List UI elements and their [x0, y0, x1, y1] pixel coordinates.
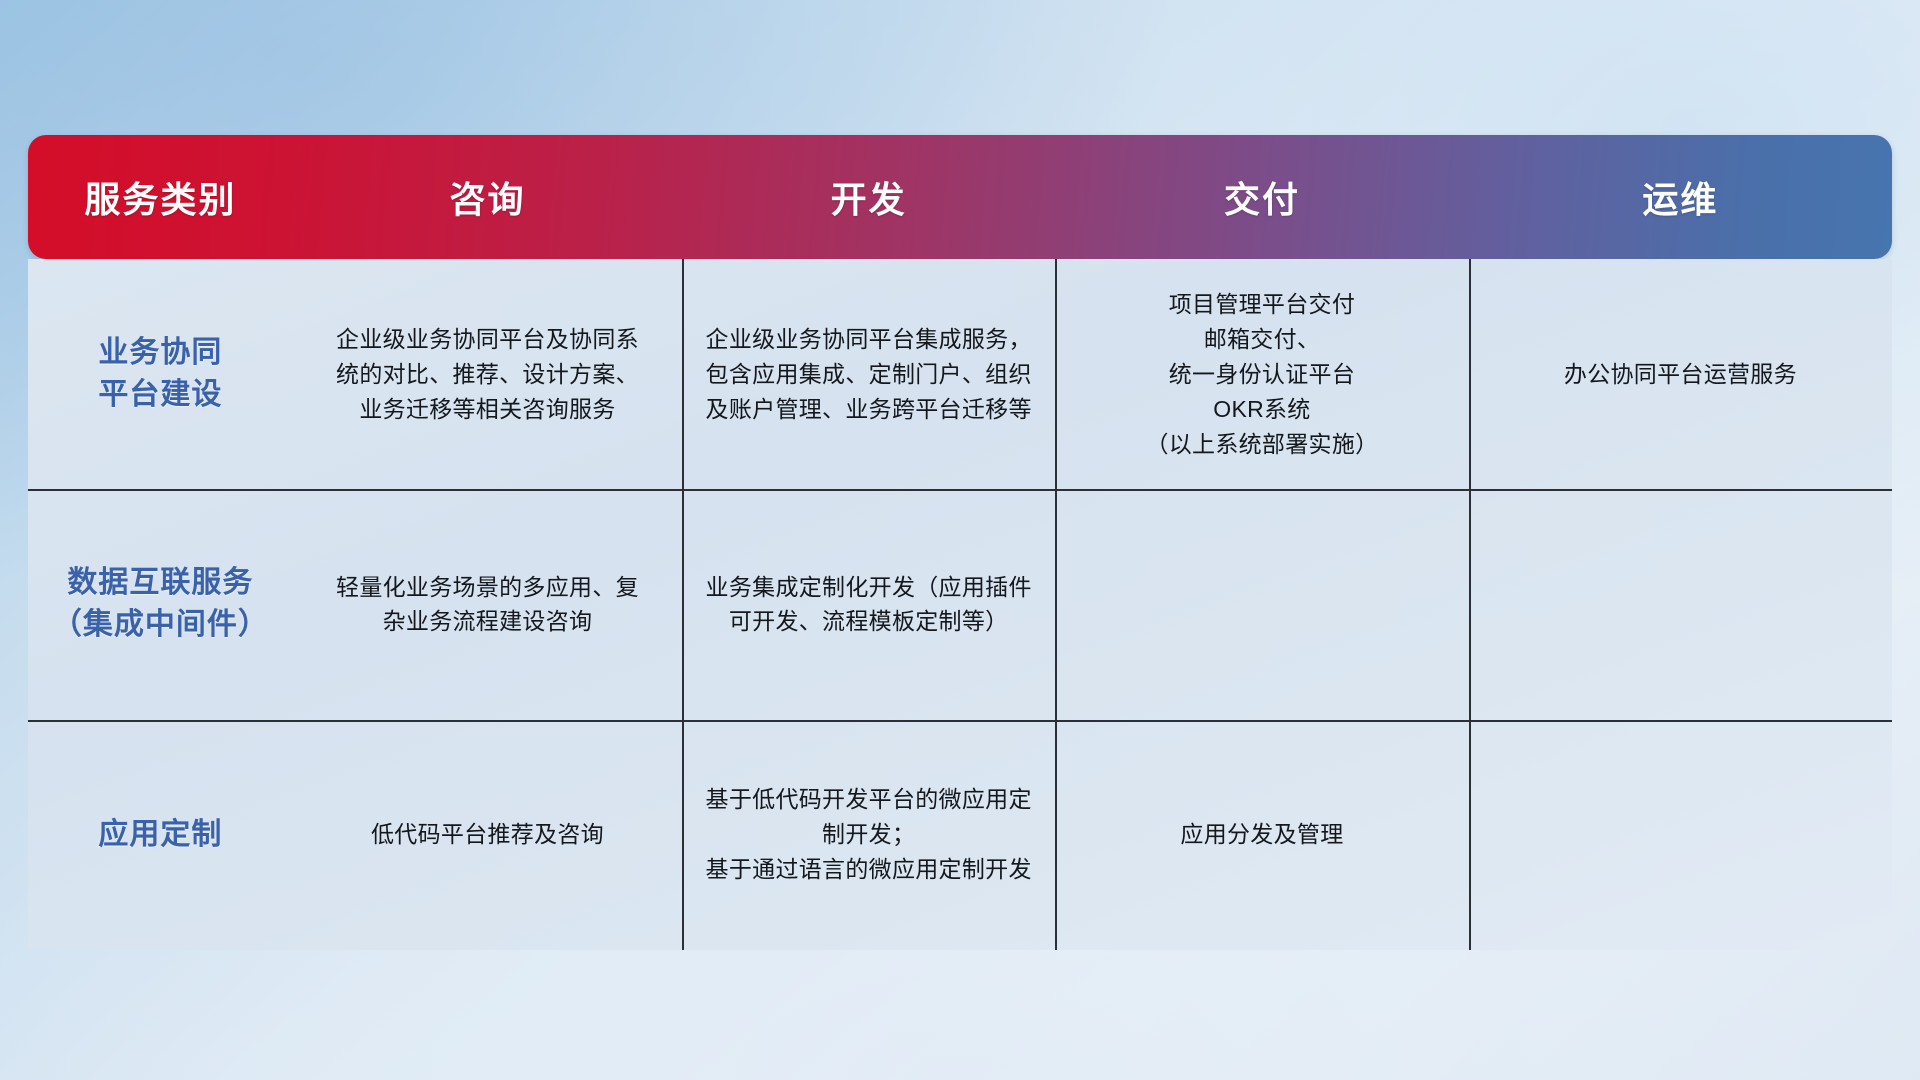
service-matrix-table: 服务类别 咨询 开发 交付 运维 业务协同 平台建设 企业级业务协同平台及协同系…: [28, 135, 1892, 950]
cell-development: 企业级业务协同平台集成服务， 包含应用集成、定制门户、组织 及账户管理、业务跨平…: [682, 259, 1055, 489]
table-header-row: 服务类别 咨询 开发 交付 运维: [28, 135, 1892, 259]
cell-consulting: 低代码平台推荐及咨询: [293, 720, 683, 950]
cell-consulting: 轻量化业务场景的多应用、复 杂业务流程建设咨询: [293, 489, 683, 719]
table-row: 应用定制 低代码平台推荐及咨询 基于低代码开发平台的微应用定 制开发； 基于通过…: [28, 720, 1892, 950]
cell-development: 业务集成定制化开发（应用插件 可开发、流程模板定制等）: [682, 489, 1055, 719]
table-body: 业务协同 平台建设 企业级业务协同平台及协同系 统的对比、推荐、设计方案、 业务…: [28, 259, 1892, 950]
cell-delivery: [1055, 489, 1469, 719]
table: 服务类别 咨询 开发 交付 运维 业务协同 平台建设 企业级业务协同平台及协同系…: [28, 135, 1892, 950]
header-consulting: 咨询: [293, 135, 683, 259]
header-operations: 运维: [1469, 135, 1892, 259]
row-category-label: 数据互联服务 （集成中间件）: [28, 489, 293, 719]
header-service-category: 服务类别: [28, 135, 293, 259]
cell-delivery: 应用分发及管理: [1055, 720, 1469, 950]
slide-canvas: 服务类别 咨询 开发 交付 运维 业务协同 平台建设 企业级业务协同平台及协同系…: [0, 0, 1920, 1080]
row-category-label: 应用定制: [28, 720, 293, 950]
cell-consulting: 企业级业务协同平台及协同系 统的对比、推荐、设计方案、 业务迁移等相关咨询服务: [293, 259, 683, 489]
cell-operations: [1469, 489, 1892, 719]
table-row: 数据互联服务 （集成中间件） 轻量化业务场景的多应用、复 杂业务流程建设咨询 业…: [28, 489, 1892, 719]
cell-development: 基于低代码开发平台的微应用定 制开发； 基于通过语言的微应用定制开发: [682, 720, 1055, 950]
table-row: 业务协同 平台建设 企业级业务协同平台及协同系 统的对比、推荐、设计方案、 业务…: [28, 259, 1892, 489]
cell-operations: 办公协同平台运营服务: [1469, 259, 1892, 489]
cell-delivery: 项目管理平台交付 邮箱交付、 统一身份认证平台 OKR系统 （以上系统部署实施）: [1055, 259, 1469, 489]
cell-operations: [1469, 720, 1892, 950]
header-delivery: 交付: [1055, 135, 1469, 259]
header-development: 开发: [682, 135, 1055, 259]
row-category-label: 业务协同 平台建设: [28, 259, 293, 489]
